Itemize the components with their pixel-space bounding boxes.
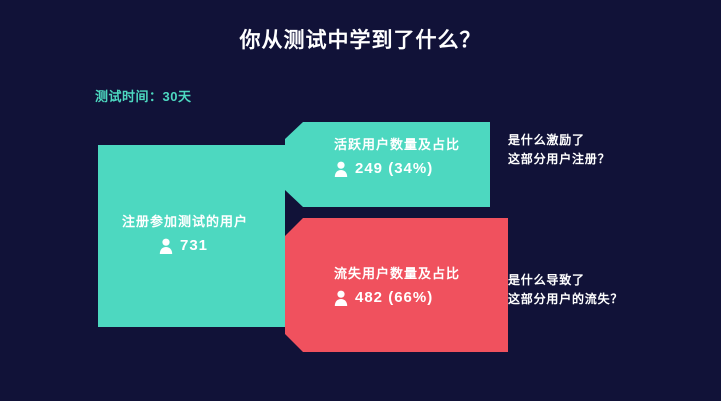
churned-users-question-line1: 是什么导致了 [508,271,623,290]
registered-users-count: 731 [180,236,208,256]
person-icon [334,161,348,177]
churned-users-value-row: 482 (66%) [334,288,433,308]
churned-users-question: 是什么导致了 这部分用户的流失？ [508,271,623,309]
churned-users-count: 482 (66%) [355,288,433,308]
funnel-diagram [0,0,721,401]
active-users-question: 是什么激励了 这部分用户注册？ [508,131,610,169]
churned-users-question-line2: 这部分用户的流失？ [508,290,623,309]
person-icon [159,238,173,254]
active-users-label: 活跃用户数量及占比 [334,136,460,154]
churned-users-arrow [285,218,508,352]
registered-users-value-row: 731 [159,236,208,256]
infographic-canvas: 你从测试中学到了什么？ 测试时间：30天 注册参加测试的用户 731 活跃用户数… [0,0,721,401]
registered-users-label: 注册参加测试的用户 [122,213,248,231]
churned-users-label: 流失用户数量及占比 [334,265,460,283]
person-icon [334,290,348,306]
active-users-count: 249 (34%) [355,159,433,179]
active-users-question-line2: 这部分用户注册？ [508,150,610,169]
active-users-value-row: 249 (34%) [334,159,433,179]
active-users-question-line1: 是什么激励了 [508,131,610,150]
